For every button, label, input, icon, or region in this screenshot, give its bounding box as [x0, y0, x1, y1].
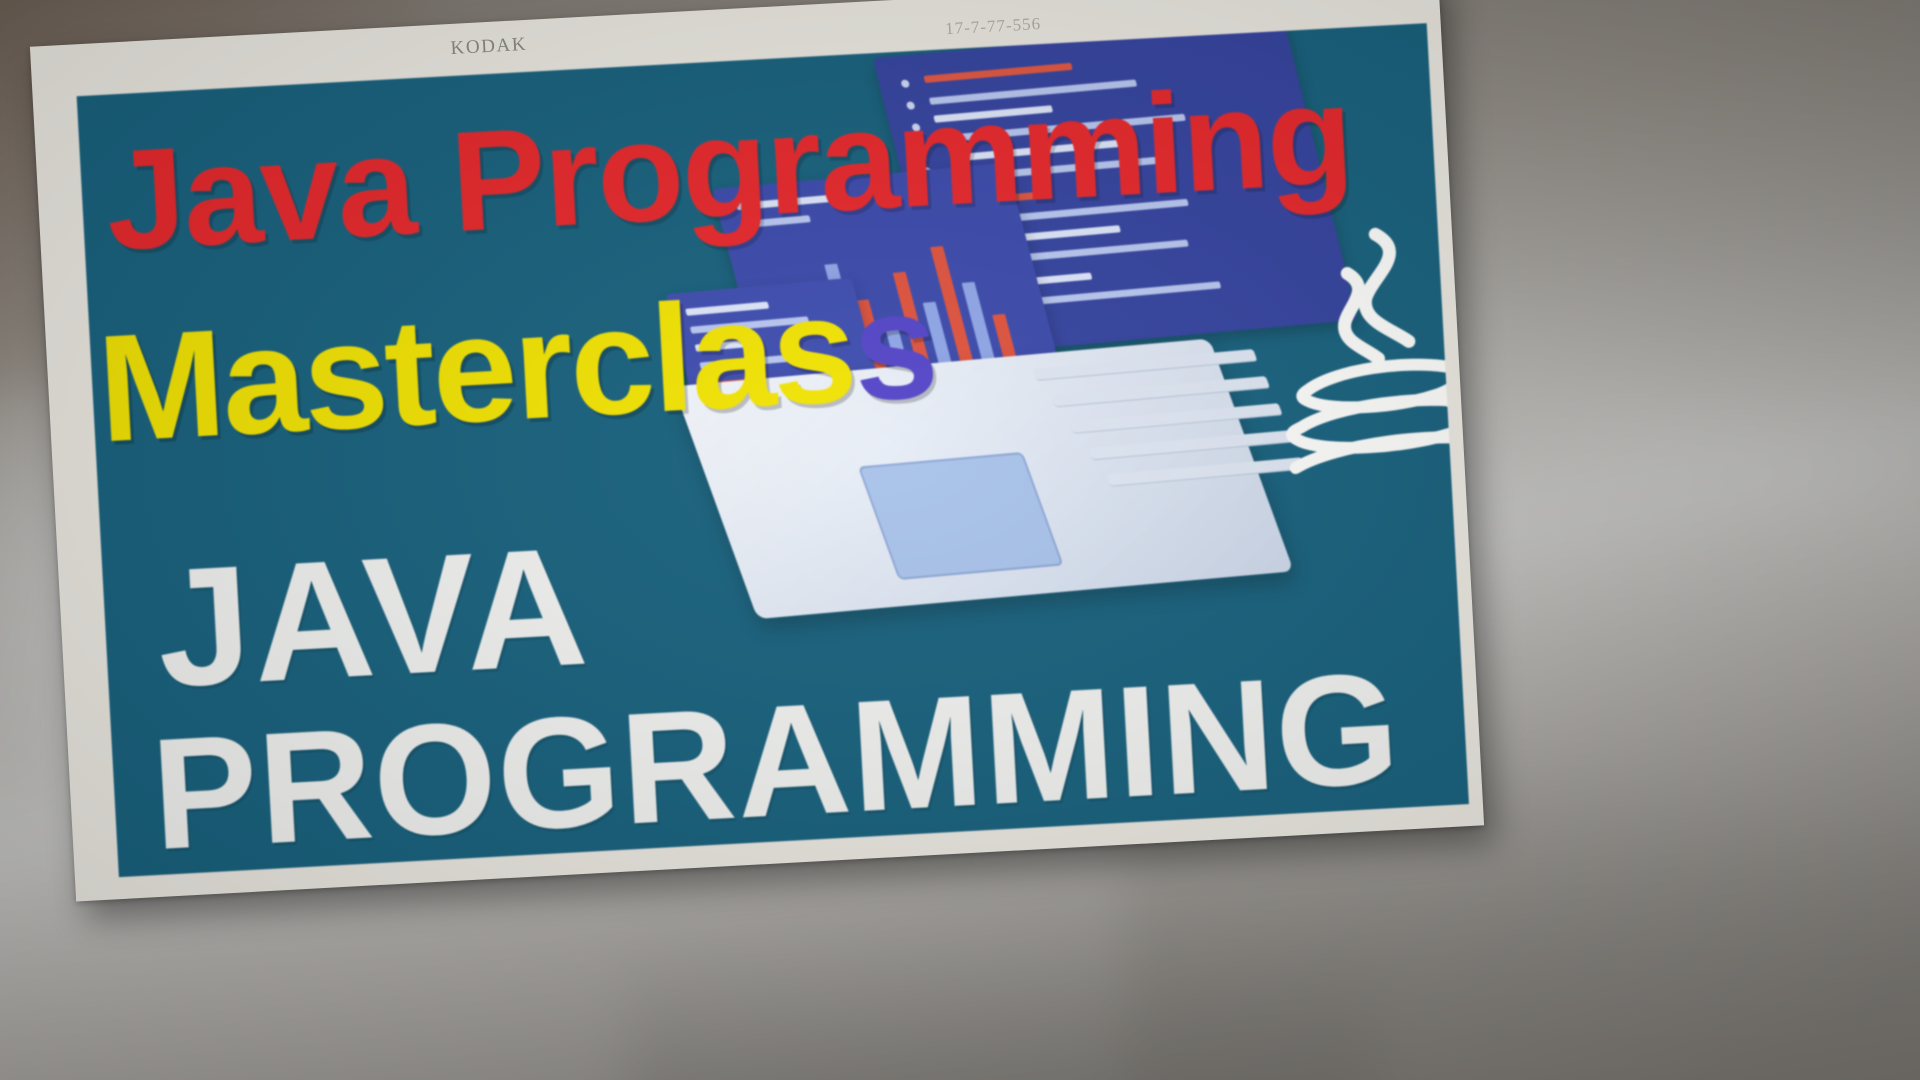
- java-coffee-cup-icon: [1246, 199, 1469, 524]
- overlay-title-line2-tail: s: [849, 259, 940, 433]
- poster-artwork: JAVA PROGRAMMING Java Programming Master…: [77, 23, 1469, 877]
- photo-print: KODAK 17-7-77-556: [30, 0, 1484, 901]
- photo-image-area: JAVA PROGRAMMING Java Programming Master…: [77, 23, 1469, 877]
- kodak-brand-mark: KODAK: [450, 34, 528, 60]
- screenshot-stage: KODAK 17-7-77-556: [0, 0, 1920, 1080]
- overlay-title-line2: Masterclass: [94, 268, 938, 465]
- backdrop-floor: [627, 862, 1376, 1080]
- film-code-mark: 17-7-77-556: [945, 14, 1042, 39]
